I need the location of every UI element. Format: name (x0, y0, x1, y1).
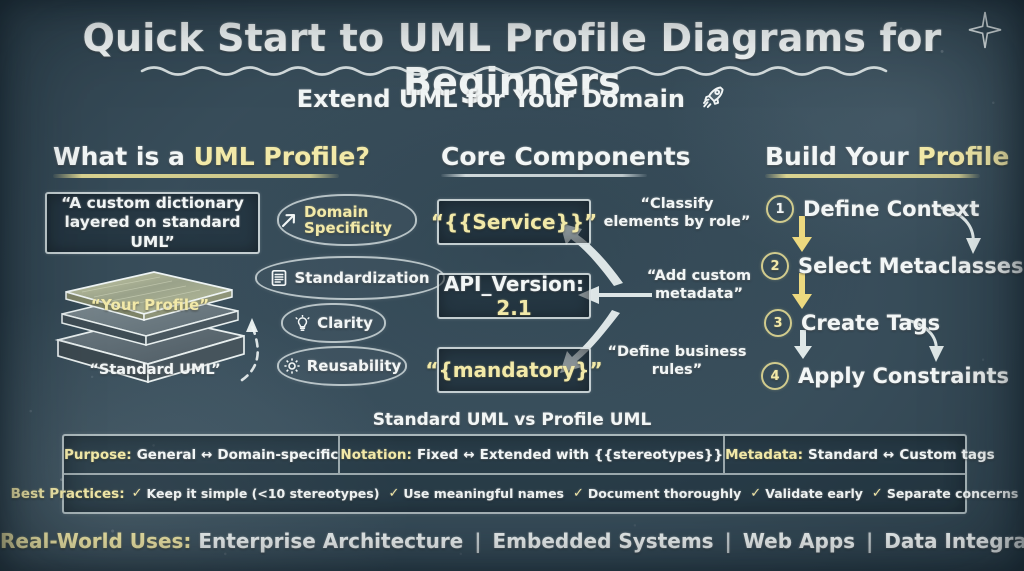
best-practice-item: ✓Document thoroughly (573, 486, 741, 501)
step-label: Apply Constraints (798, 364, 1009, 388)
comparison-cell-right: Domain-specific (217, 447, 338, 463)
chalkboard-canvas: Quick Start to UML Profile Diagrams for … (0, 0, 1024, 571)
left-heading-underline (53, 174, 339, 178)
step-label: Create Tags (801, 311, 940, 335)
build-step-2[interactable]: 2 Select Metaclasses (761, 252, 1024, 280)
best-practice-text: Keep it simple (<10 stereotypes) (147, 486, 380, 501)
real-world-item: Web Apps (743, 529, 855, 553)
best-practice-item: ✓Keep it simple (<10 stereotypes) (132, 486, 380, 501)
comparison-cell-right: Extended with {{stereotypes}} (480, 447, 723, 463)
step-label: Define Context (803, 197, 979, 221)
best-practice-item: ✓Validate early (750, 486, 863, 501)
step-number: 1 (766, 195, 794, 223)
comparison-cell-left: Standard (808, 447, 878, 463)
step-number: 4 (761, 362, 789, 390)
definition-quote-text: “A custom dictionary layered on standard… (55, 194, 250, 252)
lightbulb-icon (294, 315, 311, 332)
component-note-metadata: “Add custom metadata” (640, 268, 758, 303)
component-note-classify: “Classify elements by role” (601, 196, 753, 231)
benefit-pill-label: Standardization (294, 270, 429, 287)
real-world-item: Enterprise Architecture (198, 529, 463, 553)
check-icon: ✓ (573, 486, 584, 501)
title-underline-squiggle (140, 62, 890, 78)
best-practice-item: ✓Use meaningful names (388, 486, 564, 501)
component-box-text: “{{Service}}” (431, 210, 597, 234)
check-icon: ✓ (872, 486, 883, 501)
step-label: Select Metaclasses (798, 254, 1024, 278)
real-world-label: Real-World Uses: (0, 529, 191, 553)
check-icon: ✓ (132, 486, 143, 501)
comparison-table: Purpose:General↔Domain-specific Notation… (62, 434, 967, 514)
component-box-text-wrap: API_Version: 2.1 (439, 272, 589, 320)
comparison-cell-label: Notation: (340, 447, 412, 463)
page-subtitle: Extend UML for Your Domain (0, 84, 1024, 116)
comparison-cell-left: General (137, 447, 196, 463)
benefit-pill-label: Domain Specificity (304, 204, 415, 237)
best-practice-item: ✓Separate concerns (872, 486, 1018, 501)
middle-heading-underline (441, 174, 647, 177)
real-world-item: Data Integration (884, 529, 1024, 553)
comparison-arrow-icon: ↔ (883, 447, 894, 463)
definition-quote-box: “A custom dictionary layered on standard… (45, 192, 260, 254)
comparison-cell-right: Custom tags (899, 447, 994, 463)
right-heading-accent: Profile (917, 142, 1009, 171)
comparison-cell-left: Fixed (417, 447, 458, 463)
benefit-pill-label: Clarity (317, 315, 373, 332)
separator: | (862, 529, 877, 553)
check-icon: ✓ (750, 486, 761, 501)
best-practice-text: Validate early (765, 486, 863, 501)
comparison-row-attributes: Purpose:General↔Domain-specific Notation… (64, 436, 965, 475)
best-practice-text: Document thoroughly (588, 486, 741, 501)
component-box-text: “{mandatory}” (425, 358, 602, 382)
comparison-arrow-icon: ↔ (463, 447, 474, 463)
layer-bottom-label: “Standard UML” (80, 362, 230, 378)
right-heading-plain: Build Your (765, 142, 917, 171)
comparison-row-best-practices: Best Practices: ✓Keep it simple (<10 ste… (64, 475, 965, 512)
layer-top-label: “Your Profile” (75, 296, 225, 314)
left-heading-plain: What is a (53, 142, 194, 171)
best-practices-label: Best Practices: (11, 486, 125, 502)
arrow-up-right-icon (279, 211, 298, 230)
comparison-cell-label: Purpose: (64, 447, 132, 463)
rocket-icon (701, 84, 727, 116)
best-practice-text: Use meaningful names (403, 486, 564, 501)
benefit-pill-clarity[interactable]: Clarity (281, 303, 386, 343)
component-box-text-plain: API_Version: (444, 272, 584, 296)
comparison-arrow-icon: ↔ (201, 447, 212, 463)
left-column-heading: What is a UML Profile? (53, 142, 370, 171)
build-step-4[interactable]: 4 Apply Constraints (761, 362, 1009, 390)
subtitle-text: Extend UML for Your Domain (297, 85, 685, 113)
build-step-1[interactable]: 1 Define Context (766, 195, 979, 223)
real-world-uses-row: Real-World Uses: Enterprise Architecture… (0, 529, 1024, 553)
left-heading-accent: UML Profile? (194, 142, 370, 171)
benefit-pill-standardization[interactable]: Standardization (255, 256, 445, 300)
real-world-item: Embedded Systems (493, 529, 714, 553)
gear-icon (283, 357, 301, 375)
component-note-business-rules: “Define business rules” (601, 344, 753, 379)
comparison-cell-metadata: Metadata:Standard↔Custom tags (723, 436, 995, 473)
sparkle-star-icon (965, 10, 1005, 50)
component-box-stereotype[interactable]: “{{Service}}” (437, 199, 591, 245)
comparison-title: Standard UML vs Profile UML (0, 410, 1024, 430)
component-box-text-accent: 2.1 (496, 296, 531, 320)
benefit-pill-domain-specificity[interactable]: Domain Specificity (277, 194, 417, 246)
best-practice-text: Separate concerns (887, 486, 1019, 501)
document-lines-icon (270, 269, 288, 287)
comparison-cell-purpose: Purpose:General↔Domain-specific (64, 436, 338, 473)
comparison-cell-label: Metadata: (725, 447, 803, 463)
build-step-3[interactable]: 3 Create Tags (764, 309, 940, 337)
step-number: 2 (761, 252, 789, 280)
right-heading-underline (765, 174, 980, 178)
component-box-constraint[interactable]: “{mandatory}” (437, 347, 591, 393)
comparison-cell-notation: Notation:Fixed↔Extended with {{stereotyp… (338, 436, 723, 473)
separator: | (470, 529, 485, 553)
check-icon: ✓ (388, 486, 399, 501)
separator: | (721, 529, 736, 553)
right-column-heading: Build Your Profile (765, 142, 1009, 171)
benefit-pill-label: Reusability (307, 358, 402, 375)
benefit-pill-reusability[interactable]: Reusability (277, 346, 407, 386)
step-number: 3 (764, 309, 792, 337)
middle-column-heading: Core Components (441, 142, 691, 171)
component-box-tagged-value[interactable]: API_Version: 2.1 (437, 273, 591, 319)
